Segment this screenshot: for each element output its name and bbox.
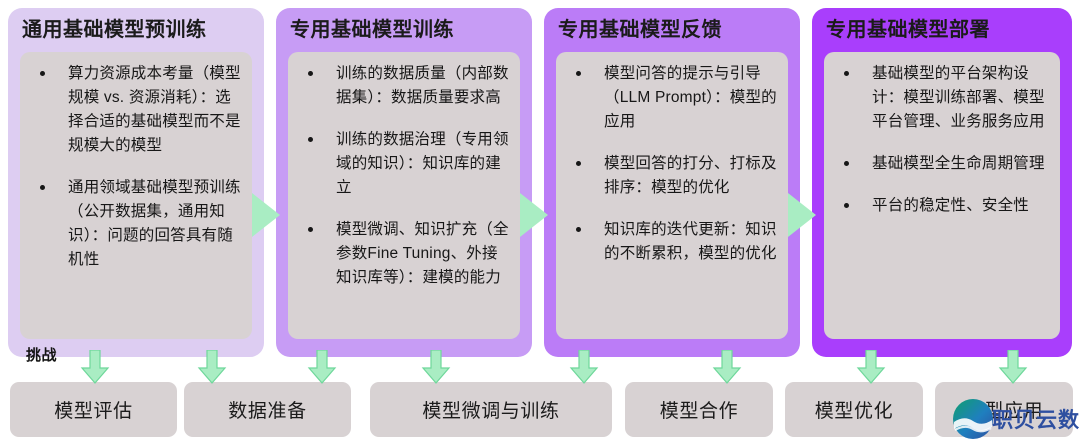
outcome-label: 模型合作 [660,396,738,423]
down-arrow-icon-6 [712,350,742,384]
bullet-item: 模型微调、知识扩充（全参数Fine Tuning、外接知识库等）：建模的能力 [292,218,512,290]
stage-title-2: 专用基础模型训练 [290,16,524,44]
bullet-dot-icon [40,185,45,190]
stage-bullet-list-2: 训练的数据质量（内部数据集）：数据质量要求高 训练的数据治理（专用领域的知识）：… [292,62,512,290]
bullet-text: 模型微调、知识扩充（全参数Fine Tuning、外接知识库等）：建模的能力 [336,221,509,286]
process-diagram: 通用基础模型预训练 算力资源成本考量（模型规模 vs. 资源消耗）：选择合适的基… [0,0,1080,446]
bullet-text: 模型回答的打分、打标及排序：模型的优化 [604,155,777,196]
bullet-dot-icon [844,161,849,166]
outcome-box-4[interactable]: 模型合作 [625,382,773,437]
outcome-label: 模型评估 [54,396,132,423]
bullet-dot-icon [844,203,849,208]
bullet-item: 知识库的迭代更新：知识的不断累积，模型的优化 [560,218,780,266]
down-arrow-icon-4 [421,350,451,384]
bullet-text: 基础模型全生命周期管理 [872,155,1045,172]
down-arrow-icon-1 [80,350,110,384]
stage-title-1: 通用基础模型预训练 [22,16,256,44]
stage-body-3: 模型问答的提示与引导（LLM Prompt）：模型的应用 模型回答的打分、打标及… [556,52,788,339]
challenge-label: 挑战 [26,344,57,365]
outcome-box-5[interactable]: 模型优化 [785,382,923,437]
bullet-item: 模型问答的提示与引导（LLM Prompt）：模型的应用 [560,62,780,134]
stage-title-3: 专用基础模型反馈 [558,16,792,44]
bullet-text: 训练的数据质量（内部数据集）：数据质量要求高 [336,65,509,106]
bullet-dot-icon [308,137,313,142]
bullet-text: 通用领域基础模型预训练（公开数据集，通用知识）：问题的回答具有随机性 [68,179,241,268]
outcome-label: 模型优化 [815,396,893,423]
bullet-text: 知识库的迭代更新：知识的不断累积，模型的优化 [604,221,777,262]
outcome-label: 数据准备 [228,396,306,423]
bullet-item: 基础模型的平台架构设计：模型训练部署、模型平台管理、业务服务应用 [828,62,1052,134]
stage-panel-3[interactable]: 专用基础模型反馈 模型问答的提示与引导（LLM Prompt）：模型的应用 模型… [544,8,800,357]
bullet-item: 算力资源成本考量（模型规模 vs. 资源消耗）：选择合适的基础模型而不是规模大的… [24,62,244,158]
down-arrow-icon-3 [307,350,337,384]
stage-arrow-right-icon-3 [788,193,816,237]
down-arrow-icon-7 [856,350,886,384]
bullet-dot-icon [308,71,313,76]
bullet-item: 平台的稳定性、安全性 [828,194,1052,218]
stage-panel-4[interactable]: 专用基础模型部署 基础模型的平台架构设计：模型训练部署、模型平台管理、业务服务应… [812,8,1072,357]
stage-body-1: 算力资源成本考量（模型规模 vs. 资源消耗）：选择合适的基础模型而不是规模大的… [20,52,252,339]
bullet-item: 训练的数据治理（专用领域的知识）：知识库的建立 [292,128,512,200]
outcome-box-6[interactable]: 模型应用 [935,382,1073,437]
stage-arrow-right-icon-2 [520,193,548,237]
stage-bullet-list-4: 基础模型的平台架构设计：模型训练部署、模型平台管理、业务服务应用 基础模型全生命… [828,62,1052,218]
stage-arrow-right-icon-1 [252,193,280,237]
down-arrow-icon-8 [998,350,1028,384]
down-arrow-icon-5 [569,350,599,384]
bullet-item: 训练的数据质量（内部数据集）：数据质量要求高 [292,62,512,110]
bullet-dot-icon [576,227,581,232]
bullet-text: 训练的数据治理（专用领域的知识）：知识库的建立 [336,131,509,196]
stage-panel-2[interactable]: 专用基础模型训练 训练的数据质量（内部数据集）：数据质量要求高 训练的数据治理（… [276,8,532,357]
outcome-box-2[interactable]: 数据准备 [184,382,351,437]
stage-panel-1[interactable]: 通用基础模型预训练 算力资源成本考量（模型规模 vs. 资源消耗）：选择合适的基… [8,8,264,357]
stage-title-4: 专用基础模型部署 [826,16,1064,44]
outcome-box-1[interactable]: 模型评估 [10,382,177,437]
stage-body-2: 训练的数据质量（内部数据集）：数据质量要求高 训练的数据治理（专用领域的知识）：… [288,52,520,339]
bullet-dot-icon [40,71,45,76]
bullet-dot-icon [844,71,849,76]
stage-bullet-list-3: 模型问答的提示与引导（LLM Prompt）：模型的应用 模型回答的打分、打标及… [560,62,780,266]
bullet-text: 算力资源成本考量（模型规模 vs. 资源消耗）：选择合适的基础模型而不是规模大的… [68,65,241,154]
bullet-text: 基础模型的平台架构设计：模型训练部署、模型平台管理、业务服务应用 [872,65,1045,130]
bullet-dot-icon [576,71,581,76]
outcome-label: 模型微调与训练 [422,396,559,423]
bullet-text: 平台的稳定性、安全性 [872,197,1029,214]
stage-bullet-list-1: 算力资源成本考量（模型规模 vs. 资源消耗）：选择合适的基础模型而不是规模大的… [24,62,244,272]
down-arrow-icon-2 [197,350,227,384]
outcome-label: 模型应用 [965,396,1043,423]
bullet-text: 模型问答的提示与引导（LLM Prompt）：模型的应用 [604,65,777,130]
bullet-dot-icon [308,227,313,232]
bullet-item: 模型回答的打分、打标及排序：模型的优化 [560,152,780,200]
bullet-item: 通用领域基础模型预训练（公开数据集，通用知识）：问题的回答具有随机性 [24,176,244,272]
stage-body-4: 基础模型的平台架构设计：模型训练部署、模型平台管理、业务服务应用 基础模型全生命… [824,52,1060,339]
bullet-item: 基础模型全生命周期管理 [828,152,1052,176]
bullet-dot-icon [576,161,581,166]
outcome-box-3[interactable]: 模型微调与训练 [370,382,612,437]
